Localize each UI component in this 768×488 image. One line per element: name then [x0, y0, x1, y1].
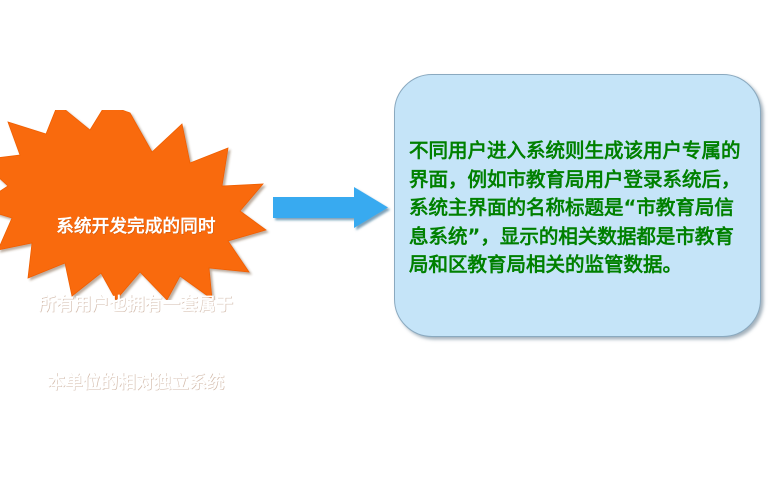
description-panel[interactable]: 不同用户进入系统则生成该用户专属的界面，例如市教育局用户登录系统后，系统主界面的… [394, 74, 761, 337]
arrow-connector[interactable] [268, 186, 396, 240]
starburst-callout[interactable]: 系统开发完成的同时 所有用户也拥有一套属于 本单位的相对独立系统 [0, 110, 272, 300]
right-arrow-icon [268, 186, 396, 240]
description-panel-text: 不同用户进入系统则生成该用户专属的界面，例如市教育局用户登录系统后，系统主界面的… [409, 137, 749, 280]
starburst-shape-icon [0, 110, 272, 300]
slide-canvas: 系统开发完成的同时 所有用户也拥有一套属于 本单位的相对独立系统 不同用户进入系… [0, 0, 768, 488]
starburst-line-3: 本单位的相对独立系统 [2, 370, 270, 396]
